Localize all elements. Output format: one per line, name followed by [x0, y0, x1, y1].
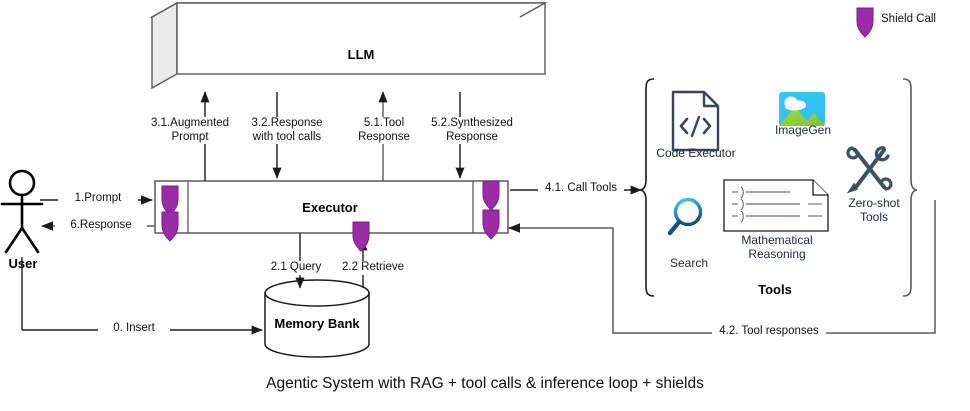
tools-left-brace	[640, 79, 654, 296]
code-document-icon	[673, 92, 718, 150]
flow-label-retrieve: 2.2 Retrieve	[332, 261, 414, 275]
legend-shield-label: Shield Call	[881, 13, 936, 25]
diagram-caption: Agentic System with RAG + tool calls & i…	[0, 375, 970, 393]
llm-box	[152, 3, 545, 88]
user-stick-figure	[2, 171, 42, 252]
flow-label-insert: 0. Insert	[98, 322, 170, 336]
shield-icon-legend	[857, 8, 873, 37]
arrow-insert	[22, 257, 262, 330]
flow-label-response: 6.Response	[55, 219, 147, 233]
executor-label: Executor	[250, 200, 410, 215]
image-icon	[779, 92, 825, 126]
llm-label: LLM	[277, 47, 445, 62]
tool-label-search: Search	[658, 256, 720, 270]
flow-label-synthesized-response: 5.2.Synthesized Response	[421, 117, 523, 144]
flow-label-call-tools: 4.1. Call Tools	[538, 182, 624, 196]
flow-label-response-tool-calls: 3.2.Response with tool calls	[235, 117, 339, 144]
wrench-screwdriver-icon	[848, 148, 891, 191]
tools-right-brace	[903, 79, 917, 296]
flow-label-tool-response: 5.1.Tool Response	[339, 117, 429, 144]
flow-label-augmented-prompt: 3.1.Augmented Prompt	[140, 117, 240, 144]
flow-label-query: 2.1 Query	[260, 261, 332, 275]
diagram-canvas: LLM Executor Memory Bank User Tools 1.Pr…	[0, 0, 970, 411]
tool-label-code-executor: Code Executor	[646, 146, 746, 160]
shield-icon-tools-in	[483, 210, 499, 239]
shield-icon-executor-out	[162, 212, 178, 241]
diagram-vector-layer	[0, 0, 970, 411]
flow-label-prompt: 1.Prompt	[58, 192, 138, 206]
magnifier-icon	[670, 200, 701, 234]
memory-bank-label: Memory Bank	[257, 316, 377, 331]
tools-group-label: Tools	[725, 282, 825, 297]
tool-label-imagegen: ImageGen	[762, 123, 844, 137]
tool-label-mathematical-reasoning: Mathematical Reasoning	[726, 233, 828, 261]
flow-label-tool-responses: 4.2. Tool responses	[712, 325, 826, 339]
formula-document-icon	[724, 180, 828, 231]
user-label: User	[0, 256, 46, 271]
shield-icon-memory	[353, 222, 369, 251]
tool-label-zero-shot-tools: Zero-shot Tools	[838, 196, 910, 224]
